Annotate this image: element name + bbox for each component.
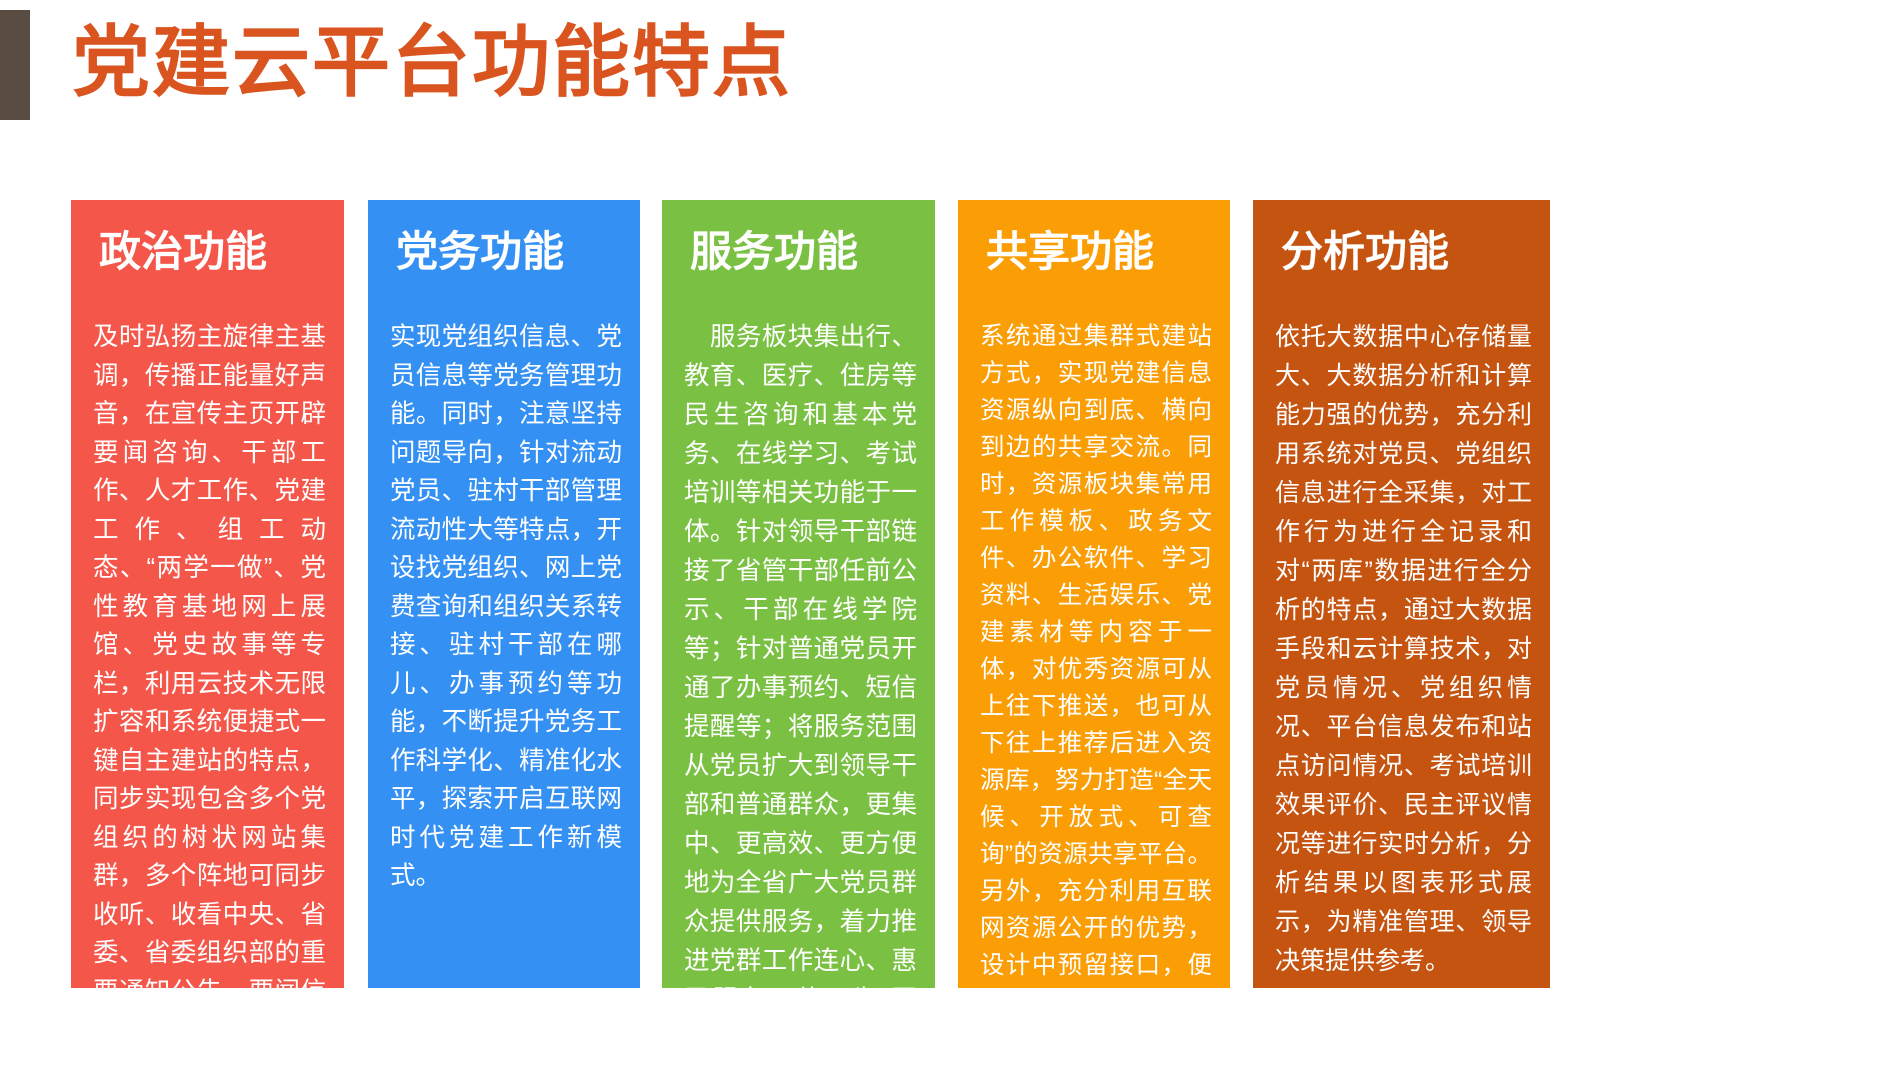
card-title: 分析功能 xyxy=(1281,226,1532,278)
feature-card-political[interactable]: 政治功能 及时弘扬主旋律主基调，传播正能量好声音，在宣传主页开辟要闻咨询、干部工… xyxy=(71,200,344,988)
card-body: 依托大数据中心存储量大、大数据分析和计算能力强的优势，充分利用系统对党员、党组织… xyxy=(1275,318,1532,981)
card-body: 实现党组织信息、党员信息等党务管理功能。同时，注意坚持问题导向，针对流动党员、驻… xyxy=(390,318,622,896)
feature-card-analysis[interactable]: 分析功能 依托大数据中心存储量大、大数据分析和计算能力强的优势，充分利用系统对党… xyxy=(1253,200,1550,988)
card-title: 服务功能 xyxy=(690,226,917,278)
card-title: 党务功能 xyxy=(396,226,622,278)
feature-card-service[interactable]: 服务功能 服务板块集出行、教育、医疗、住房等民生咨询和基本党务、在线学习、考试培… xyxy=(662,200,935,988)
header-accent-bar xyxy=(0,10,30,120)
feature-card-party-affairs[interactable]: 党务功能 实现党组织信息、党员信息等党务管理功能。同时，注意坚持问题导向，针对流… xyxy=(368,200,640,988)
card-title: 政治功能 xyxy=(99,226,326,278)
card-body: 及时弘扬主旋律主基调，传播正能量好声音，在宣传主页开辟要闻咨询、干部工作、人才工… xyxy=(93,318,326,988)
card-body: 服务板块集出行、教育、医疗、住房等民生咨询和基本党务、在线学习、考试培训等相关功… xyxy=(684,318,917,988)
page-header: 党建云平台功能特点 xyxy=(0,0,1900,160)
page-title: 党建云平台功能特点 xyxy=(72,14,792,110)
feature-cards-row: 政治功能 及时弘扬主旋律主基调，传播正能量好声音，在宣传主页开辟要闻咨询、干部工… xyxy=(0,200,1900,990)
card-body: 系统通过集群式建站方式，实现党建信息资源纵向到底、横向到边的共享交流。同时，资源… xyxy=(980,318,1212,988)
feature-card-sharing[interactable]: 共享功能 系统通过集群式建站方式，实现党建信息资源纵向到底、横向到边的共享交流。… xyxy=(958,200,1230,988)
card-title: 共享功能 xyxy=(986,226,1212,278)
